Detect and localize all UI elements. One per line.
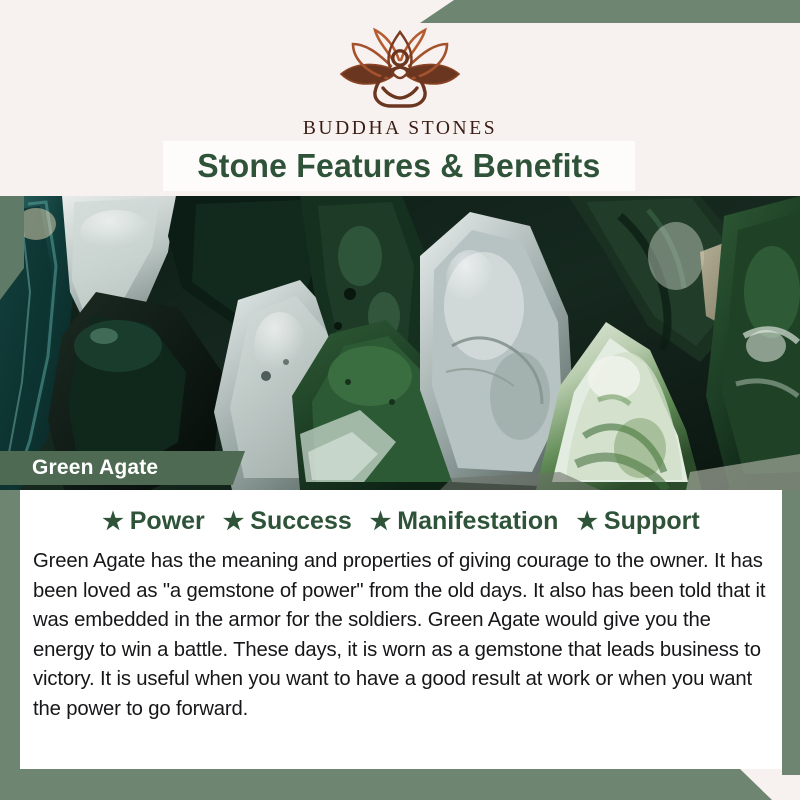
body-section: ★Power★Success★Manifestation★Support Gre… [20,490,782,769]
frame-top-right-bar [420,0,800,23]
brand-logo: BUDDHA STONES [0,26,800,140]
frame-left-bar [0,470,20,800]
benefit-label: Success [250,507,351,536]
stone-photo-artwork [0,196,800,490]
benefit-label: Power [130,507,205,536]
frame-bottom-bar [0,769,800,800]
stone-name-banner: Green Agate [0,451,245,485]
benefit-label: Support [604,507,700,536]
star-icon: ★ [102,510,124,534]
benefits-list: ★Power★Success★Manifestation★Support [26,507,776,536]
benefit-item: ★Manifestation [370,507,559,536]
stone-photo [0,196,800,490]
lotus-meditation-icon [325,26,475,114]
star-icon: ★ [223,510,245,534]
benefit-item: ★Support [576,507,699,536]
page-title: Stone Features & Benefits [197,147,600,185]
benefit-label: Manifestation [397,507,558,536]
benefit-item: ★Power [102,507,205,536]
stone-name-label: Green Agate [32,456,158,480]
benefit-item: ★Success [223,507,352,536]
brand-name: BUDDHA STONES [303,118,497,140]
star-icon: ★ [576,510,598,534]
title-band: Stone Features & Benefits [163,141,635,191]
star-icon: ★ [370,510,392,534]
stone-description: Green Agate has the meaning and properti… [26,547,776,724]
poster-root: BUDDHA STONES Stone Features & Benefits … [0,0,800,800]
